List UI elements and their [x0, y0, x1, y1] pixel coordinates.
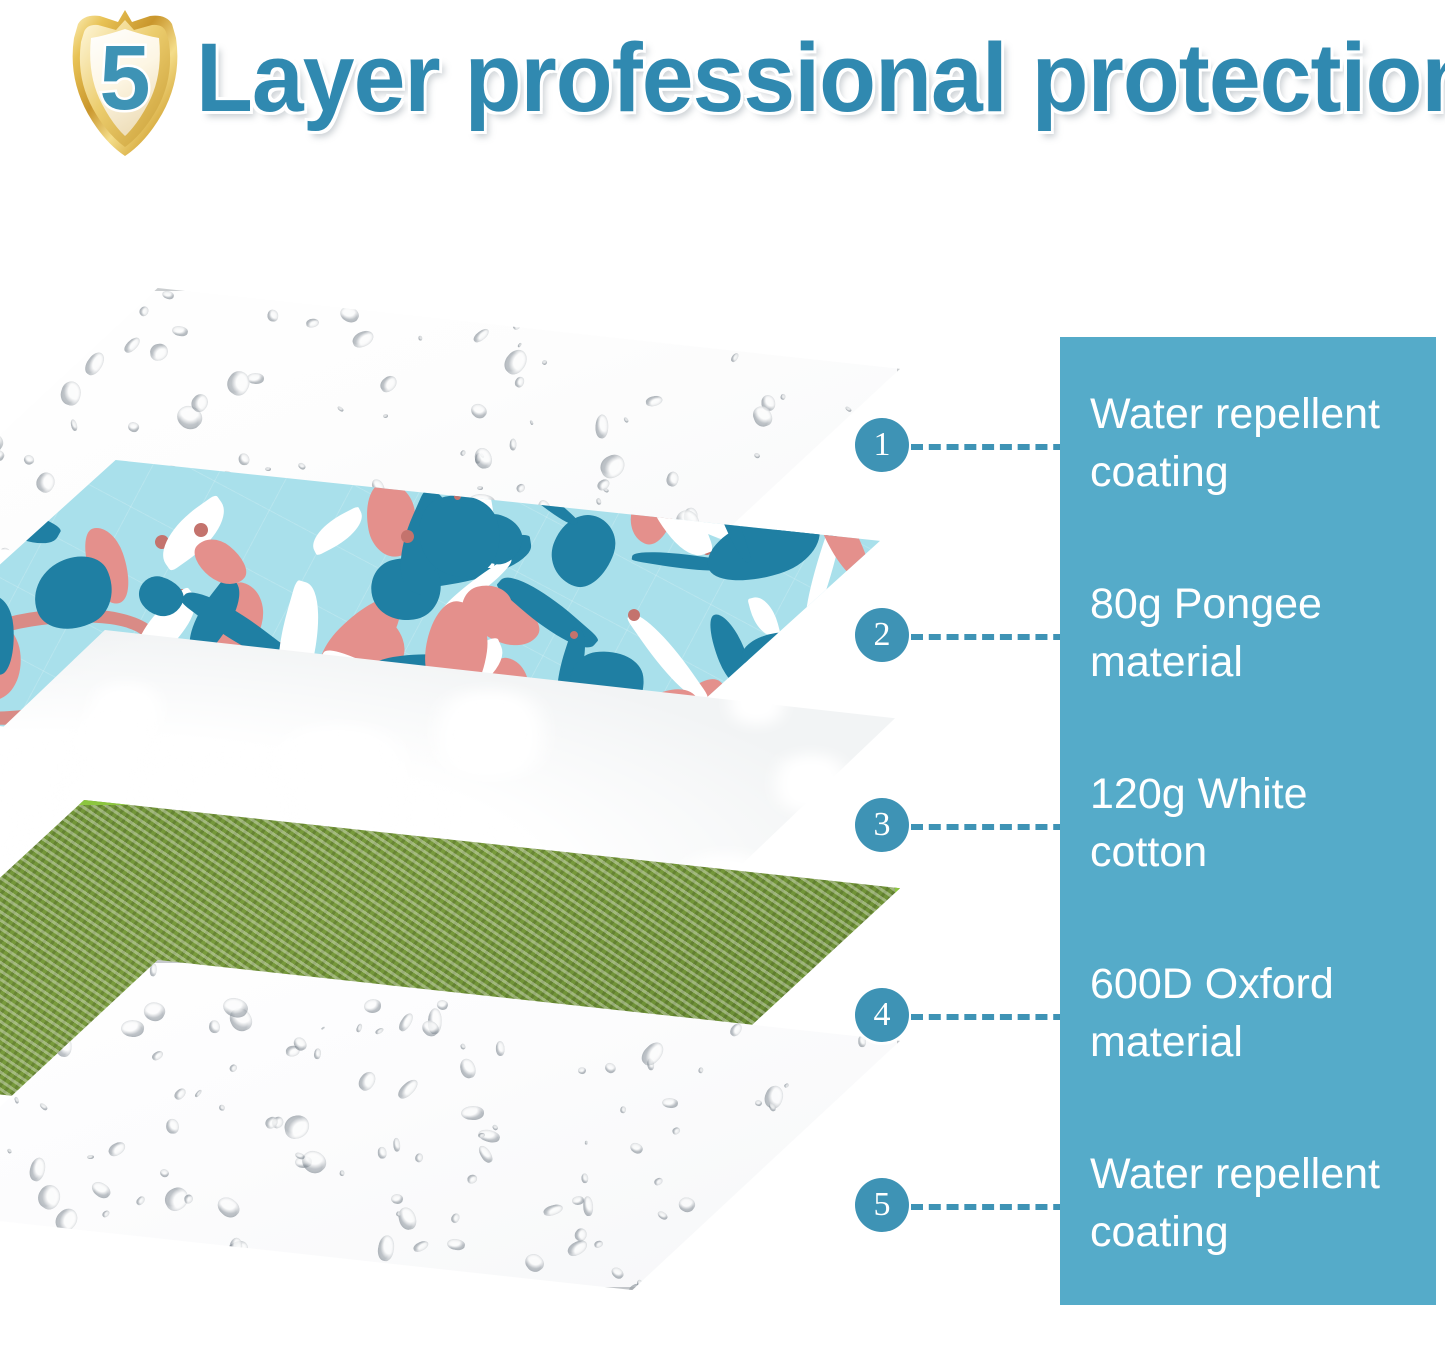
layer-label-5: Water repellent coating	[1090, 1145, 1420, 1261]
layer-label-1: Water repellent coating	[1090, 385, 1420, 501]
layer-number-badge-3: 3	[855, 798, 909, 852]
connector-line-3	[911, 824, 1083, 830]
layer-label-4: 600D Oxford material	[1090, 955, 1420, 1071]
connector-line-4	[911, 1014, 1083, 1020]
layer-number-badge-4: 4	[855, 988, 909, 1042]
layer-label-2: 80g Pongee material	[1090, 575, 1420, 691]
connector-line-5	[911, 1204, 1083, 1210]
layer-label-panel: Water repellent coating 80g Pongee mater…	[1060, 337, 1436, 1305]
layer-label-3: 120g White cotton	[1090, 765, 1420, 881]
layer-number-badge-5: 5	[855, 1178, 909, 1232]
page-title: Layer professional protection	[196, 18, 1396, 138]
gold-shield-icon: 5	[62, 8, 188, 158]
svg-text:5: 5	[99, 27, 150, 129]
header-title-bar: 5 Layer professional protection	[0, 0, 1445, 160]
layer-number-badge-1: 1	[855, 418, 909, 472]
layer-number-badge-2: 2	[855, 608, 909, 662]
connector-line-2	[911, 634, 1083, 640]
connector-line-1	[911, 444, 1083, 450]
